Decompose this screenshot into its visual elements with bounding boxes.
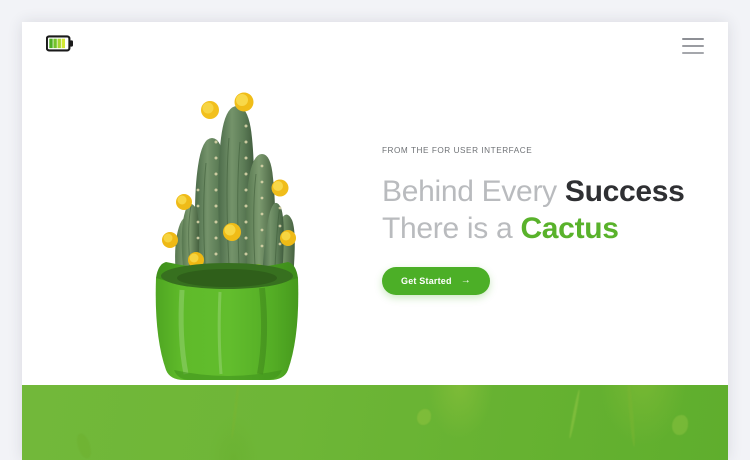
page-card: FROM THE FOR USER INTERFACE Behind Every…	[22, 22, 728, 460]
battery-icon	[46, 35, 74, 57]
leaf-stem-2	[626, 385, 636, 447]
hamburger-line-1	[682, 38, 704, 40]
get-started-label: Get Started	[401, 276, 452, 286]
hero-eyebrow: FROM THE FOR USER INTERFACE	[382, 146, 712, 155]
screenshot-viewport: FROM THE FOR USER INTERFACE Behind Every…	[0, 0, 750, 460]
site-header	[22, 22, 728, 70]
cactus-in-green-pot	[112, 80, 342, 380]
leaf-blade-3	[75, 432, 94, 460]
leaf-blade-1	[417, 409, 431, 425]
green-leaf-band	[22, 385, 728, 460]
brand-logo[interactable]	[46, 35, 74, 57]
hero-copy: FROM THE FOR USER INTERFACE Behind Every…	[382, 146, 712, 295]
arrow-right-icon: →	[461, 276, 471, 286]
hamburger-menu-icon[interactable]	[682, 38, 704, 54]
leaf-stem-1	[230, 385, 240, 439]
headline-accent: Cactus	[520, 212, 618, 245]
headline-light-1: Behind Every	[382, 175, 565, 208]
hamburger-line-3	[682, 52, 704, 54]
get-started-button[interactable]: Get Started →	[382, 267, 490, 295]
hamburger-line-2	[682, 45, 704, 47]
hero-headline: Behind Every Success There is a Cactus	[382, 173, 712, 247]
leaf-blade-2	[672, 415, 688, 435]
headline-line-2: There is a Cactus	[382, 212, 619, 245]
hero-section: FROM THE FOR USER INTERFACE Behind Every…	[22, 70, 728, 385]
headline-line-1: Behind Every Success	[382, 175, 685, 208]
headline-strong: Success	[565, 175, 685, 208]
headline-light-2: There is a	[382, 212, 520, 245]
leaf-stem-3	[568, 389, 580, 439]
